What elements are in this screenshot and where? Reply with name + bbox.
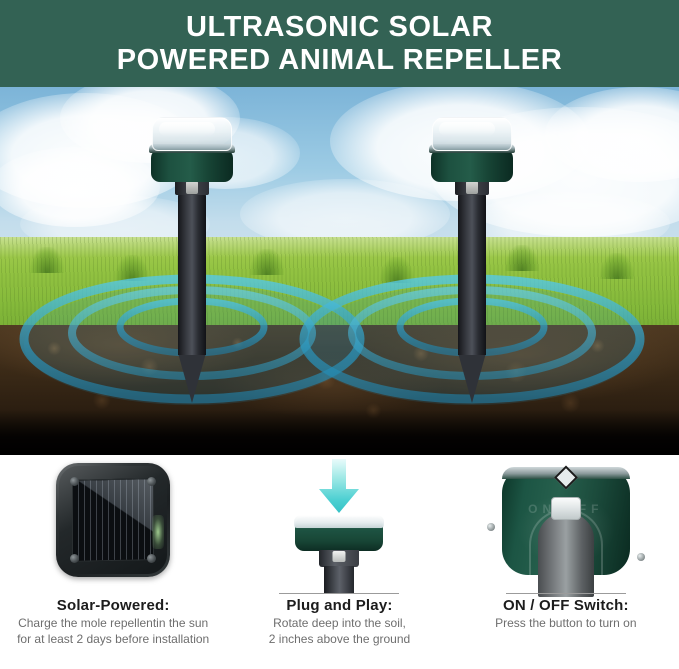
header-banner: ULTRASONIC SOLAR POWERED ANIMAL REPELLER	[0, 0, 679, 87]
stake-tube	[178, 193, 206, 355]
panel-edge-glow	[152, 515, 164, 549]
stake-tube	[324, 566, 354, 594]
stake-tip	[458, 353, 486, 403]
feature-desc-line: Rotate deep into the soil,	[273, 615, 406, 631]
on-off-switch-icon: ON/OFF	[453, 455, 679, 595]
screw	[147, 554, 156, 563]
feature-plug-and-play: Plug and Play: Rotate deep into the soil…	[226, 455, 452, 669]
grass-tuft	[115, 255, 149, 281]
repeller-device-right	[431, 117, 513, 387]
device-top-cover	[294, 515, 384, 528]
device-body	[151, 149, 233, 182]
stake-tube	[538, 513, 594, 597]
ground-line	[506, 593, 626, 594]
feature-desc-line: 2 inches above the ground	[269, 631, 410, 647]
ultrasonic-speaker	[186, 181, 198, 194]
product-infographic: ULTRASONIC SOLAR POWERED ANIMAL REPELLER	[0, 0, 679, 669]
hero-photo	[0, 87, 679, 455]
screw	[70, 554, 79, 563]
ultrasonic-speaker	[333, 551, 346, 562]
feature-desc-line: Charge the mole repellentin the sun	[18, 615, 208, 631]
stake-tip	[178, 353, 206, 403]
plug-and-play-icon	[226, 455, 452, 595]
stake-tube	[458, 193, 486, 355]
screw	[70, 477, 79, 486]
screw	[637, 553, 645, 561]
repeller-device-left	[151, 117, 233, 387]
screw	[487, 523, 495, 531]
feature-title: ON / OFF Switch:	[503, 597, 629, 615]
solar-panel-icon	[0, 455, 226, 595]
feature-title: Solar-Powered:	[57, 597, 170, 615]
device-body	[431, 149, 513, 182]
down-arrow-icon	[317, 459, 361, 515]
feature-desc-line: Press the button to turn on	[495, 615, 636, 631]
grass-tuft	[250, 249, 284, 275]
feature-solar-powered: Solar-Powered: Charge the mole repellent…	[0, 455, 226, 669]
feature-title: Plug and Play:	[286, 597, 392, 615]
feature-on-off-switch: ON/OFF ON / OFF Switch: Press the button…	[453, 455, 679, 669]
ultrasonic-speaker	[466, 181, 478, 194]
panel-frame	[56, 463, 170, 577]
grass-tuft	[600, 253, 634, 279]
page-title-line-2: POWERED ANIMAL REPELLER	[117, 44, 563, 77]
photo-bottom-fade	[0, 409, 679, 455]
grass-tuft	[30, 247, 64, 273]
feature-row: Solar-Powered: Charge the mole repellent…	[0, 455, 679, 669]
page-title-line-1: ULTRASONIC SOLAR	[186, 11, 493, 44]
ground-line	[279, 593, 399, 594]
photovoltaic-cell	[72, 478, 154, 562]
feature-desc-line: for at least 2 days before installation	[17, 631, 209, 647]
screw	[147, 477, 156, 486]
solar-dome-cover	[432, 117, 512, 151]
solar-dome-cover	[152, 117, 232, 151]
grass-tuft	[380, 257, 414, 283]
power-button[interactable]	[551, 497, 581, 520]
